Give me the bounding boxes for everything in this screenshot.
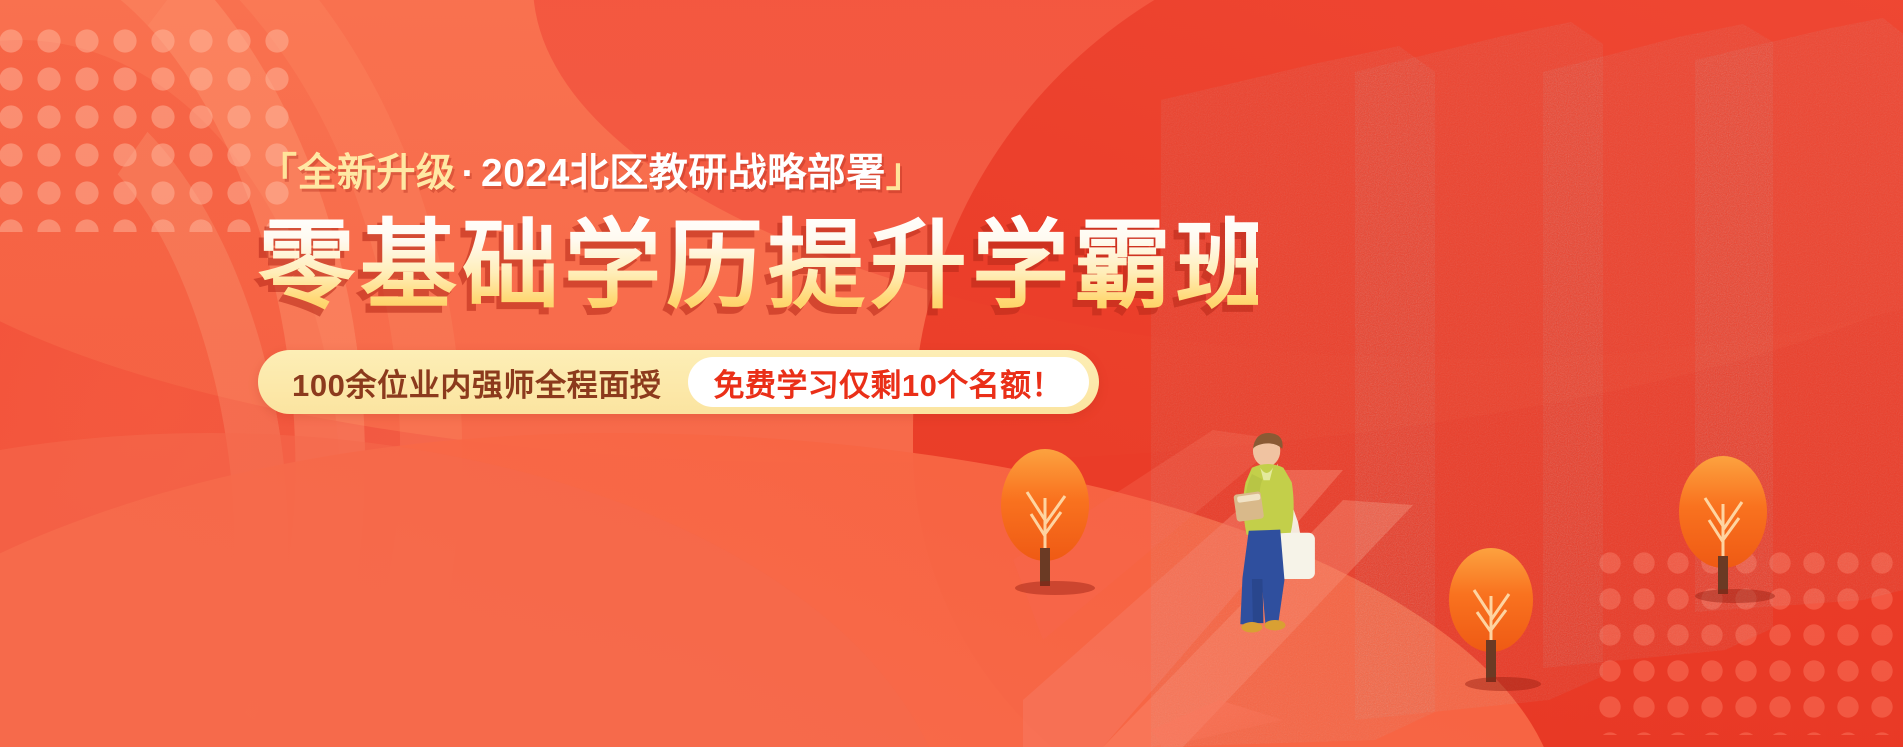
- status-badge-free-slots: 免费学习仅剩10个名额！: [688, 357, 1089, 407]
- banner-subtitle: 「全新升级·2024北区教研战略部署」: [258, 150, 1258, 199]
- subtitle-open-bracket: 「: [258, 152, 298, 195]
- dot-grid-top-left-icon: [0, 22, 292, 232]
- subtitle-separator-dot: ·: [456, 152, 482, 195]
- subtitle-rest: 2024北区教研战略部署: [481, 152, 886, 195]
- subtitle-close-bracket: 」: [886, 152, 926, 195]
- page-title: 零基础学历提升学霸班: [258, 212, 1258, 321]
- banner-copy: 「全新升级·2024北区教研战略部署」 零基础学历提升学霸班 100余位业内强师…: [258, 150, 1258, 414]
- subtitle-highlight: 全新升级: [298, 152, 456, 195]
- offer-badge: 100余位业内强师全程面授 免费学习仅剩10个名额！: [258, 350, 1099, 414]
- badge-teachers-label: 100余位业内强师全程面授: [292, 360, 688, 405]
- promo-banner: 「全新升级·2024北区教研战略部署」 零基础学历提升学霸班 100余位业内强师…: [0, 0, 1903, 747]
